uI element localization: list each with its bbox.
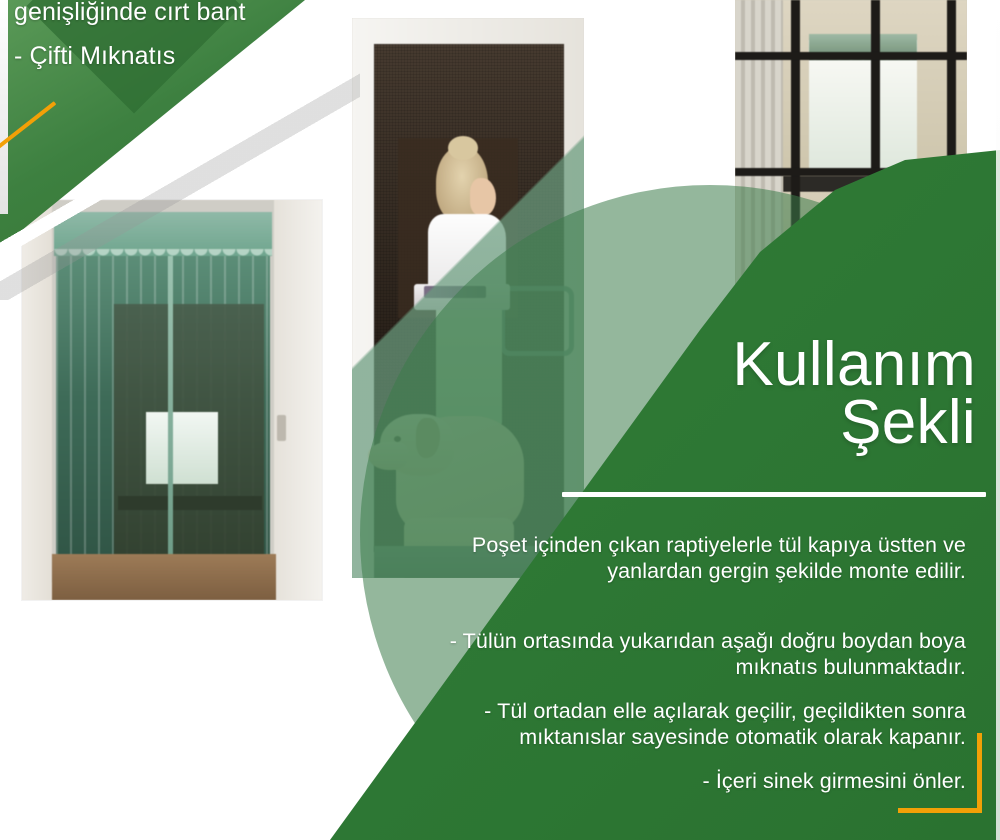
photo-right-mullion-1 [791,0,800,300]
photo-center-woman-face [470,178,496,216]
photo-left-door-handle [277,415,286,441]
title-divider-rule [562,492,986,497]
slide-canvas: genişliğinde cırt bant - Çifti Mıknatıs … [0,0,1000,840]
body-paragraph-3: - Tül ortadan elle açılarak geçilir, geç… [436,698,966,750]
body-paragraph-1: Poşet içinden çıkan raptiyelerle tül kap… [466,532,966,584]
photo-left-valance-lace [54,249,272,263]
photo-left-window [146,412,218,484]
orange-corner-bracket-vertical [977,733,982,813]
photo-center-woman-and-dog [352,18,584,578]
orange-corner-bracket-horizontal [898,808,982,813]
title-line-2: Şekli [456,394,976,452]
header-line-2: - Çifti Mıknatıs [14,34,314,78]
photo-right-kitchen [735,0,967,300]
body-paragraph-4: - İçeri sinek girmesini önler. [436,768,966,794]
photo-left-floor [52,554,276,600]
photo-center-dog-eye [394,436,401,442]
photo-right-counter [783,176,933,192]
photo-right-rail-top [735,52,967,60]
photo-left-center-seam [168,250,173,580]
photo-center-dog-snout [368,442,408,470]
header-left-bar [0,0,8,214]
photo-right-rail-mid [735,168,967,176]
photo-center-woman-bun [448,136,478,160]
photo-center-tray-items [424,286,486,298]
header-feature-list: genişliğinde cırt bant - Çifti Mıknatıs [14,0,314,78]
photo-left-wall-left [22,200,56,600]
photo-left-screen-door [22,200,322,600]
body-paragraph-2: - Tülün ortasında yukarıdan aşağı doğru … [436,628,966,680]
photo-left-valance [54,212,272,256]
photo-right-cabinets [775,192,945,300]
photo-right-door-leaf [735,0,783,300]
photo-right-mullion-3 [947,0,956,300]
photo-left-counter [118,496,262,510]
right-edge-sliver [996,0,1000,840]
page-title: Kullanım Şekli [456,336,976,452]
photo-right-mullion-2 [871,0,880,300]
header-line-1: genişliğinde cırt bant [14,0,314,34]
photo-left-wall-right [270,200,322,600]
